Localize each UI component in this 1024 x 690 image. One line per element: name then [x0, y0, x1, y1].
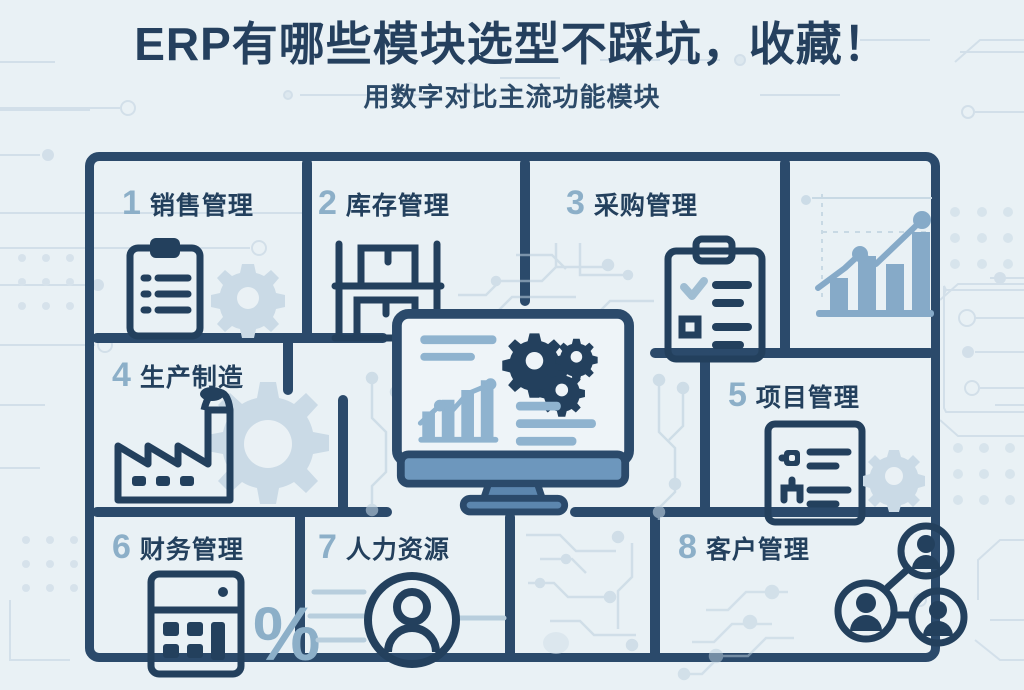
- module-3-number: 3: [566, 186, 585, 220]
- module-1-icons: [120, 236, 300, 346]
- module-6-label: 财务管理: [140, 538, 244, 563]
- chart-decor-dot: [801, 195, 811, 205]
- monitor-base: [463, 498, 564, 512]
- module-5-number: 5: [728, 378, 747, 412]
- module-6-number: 6: [112, 530, 131, 564]
- module-5-header: 5 项目管理: [728, 378, 860, 412]
- circuit-decor-cell8: [676, 570, 796, 690]
- gear-icon: [863, 450, 925, 512]
- module-1-label: 销售管理: [150, 194, 254, 219]
- module-3-icon: [660, 235, 770, 365]
- top-right-growth-chart: [800, 180, 940, 340]
- chart-baseline: [816, 310, 934, 317]
- circuit-decor-cell5: [645, 372, 705, 522]
- module-8-label: 客户管理: [706, 538, 810, 563]
- chart-point: [852, 246, 868, 262]
- module-3-label: 采购管理: [594, 194, 698, 219]
- clipboard-list-icon: [130, 238, 200, 336]
- module-2-number: 2: [318, 186, 337, 220]
- people-network-icon: [838, 526, 964, 643]
- module-5-label: 项目管理: [756, 386, 860, 411]
- monitor-chin: [401, 454, 625, 483]
- module-8-header: 8 客户管理: [678, 530, 810, 564]
- module-8-number: 8: [678, 530, 697, 564]
- module-7-label: 人力资源: [346, 538, 450, 563]
- module-7-header: 7 人力资源: [318, 530, 450, 564]
- clipboard-check-icon: [668, 239, 762, 359]
- module-7-number: 7: [318, 530, 337, 564]
- divider-col-8-left: [650, 512, 660, 662]
- circuit-decor-cell7: [520, 525, 650, 665]
- divider-col-1-2: [302, 158, 312, 338]
- module-3-header: 3 采购管理: [566, 186, 698, 220]
- divider-col-3-chart: [780, 158, 790, 353]
- module-8-icon: [830, 525, 970, 650]
- erp-dashboard-monitor: [388, 310, 638, 510]
- module-4-icons: [108, 372, 338, 512]
- module-2-header: 2 库存管理: [318, 186, 450, 220]
- divider-col-4-center: [338, 395, 348, 515]
- chart-point: [913, 211, 931, 229]
- module-7-icon: [308, 570, 508, 680]
- calculator-icon: [151, 574, 241, 674]
- module-1-header: 1 销售管理: [122, 186, 254, 220]
- decor-lines: [310, 592, 504, 640]
- module-2-label: 库存管理: [346, 194, 450, 219]
- gear-icon: [211, 264, 285, 338]
- factory-windows: [132, 476, 194, 486]
- module-6-icons: %: [145, 570, 305, 680]
- person-circle-icon: [368, 576, 456, 664]
- module-6-header: 6 财务管理: [112, 530, 244, 564]
- module-5-icons: [762, 418, 922, 528]
- module-1-number: 1: [122, 186, 141, 220]
- task-board-icon: [768, 424, 862, 522]
- page-title: ERP有哪些模块选型不踩坑，收藏！: [0, 18, 1024, 71]
- header: ERP有哪些模块选型不踩坑，收藏！ 用数字对比主流功能模块: [0, 18, 1024, 114]
- infographic-canvas: ERP有哪些模块选型不踩坑，收藏！ 用数字对比主流功能模块 1 销售管理: [0, 0, 1024, 683]
- page-subtitle: 用数字对比主流功能模块: [0, 77, 1024, 114]
